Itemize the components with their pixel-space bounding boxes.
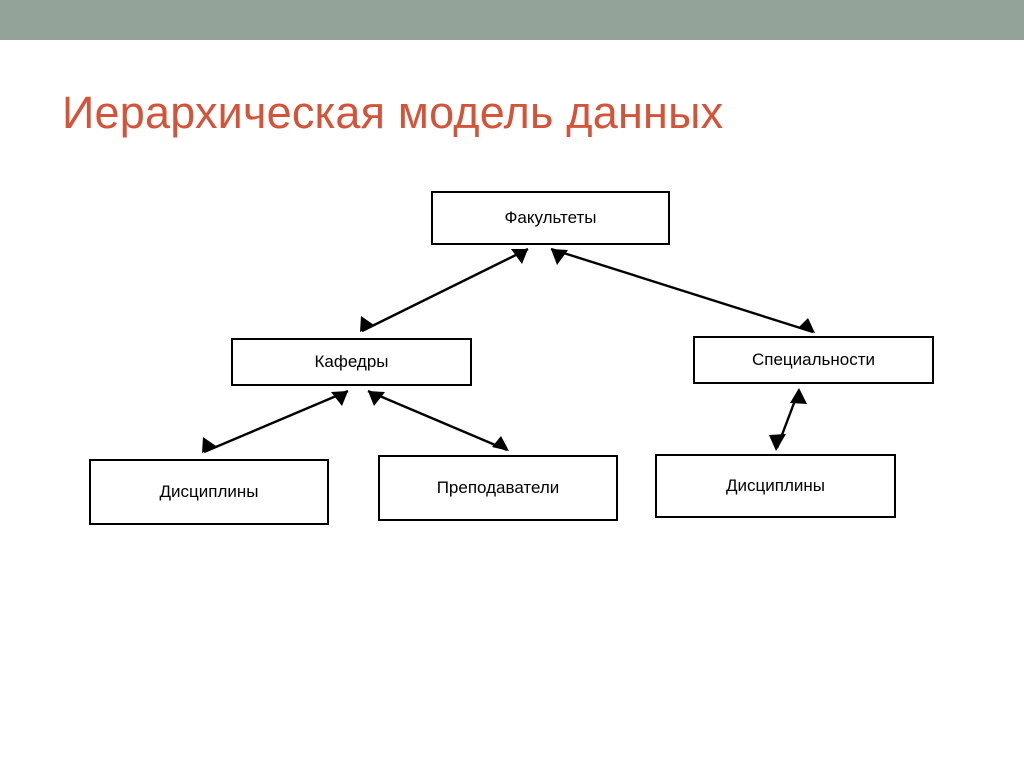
arrowhead-up-icon xyxy=(551,249,568,265)
edge-departments-teachers xyxy=(368,391,509,451)
node-teachers-label: Преподаватели xyxy=(437,478,560,498)
arrowhead-down-icon xyxy=(360,316,374,332)
node-disciplines-left[interactable]: Дисциплины xyxy=(89,459,329,525)
edge-faculties-specialities xyxy=(551,249,815,333)
arrowhead-up-icon xyxy=(368,391,385,406)
hierarchy-diagram: Факультеты Кафедры Специальности Дисципл… xyxy=(0,0,1024,767)
node-departments-label: Кафедры xyxy=(314,352,388,372)
node-specialities[interactable]: Специальности xyxy=(693,336,934,384)
node-disciplines-right-label: Дисциплины xyxy=(726,476,825,496)
node-departments[interactable]: Кафедры xyxy=(231,338,472,386)
edge-faculties-departments xyxy=(360,249,528,332)
node-disciplines-right[interactable]: Дисциплины xyxy=(655,454,896,518)
arrowhead-down-icon xyxy=(769,434,786,451)
arrowhead-up-icon xyxy=(331,391,348,406)
arrowhead-up-icon xyxy=(511,249,528,264)
arrowhead-up-icon xyxy=(790,388,807,404)
node-disciplines-left-label: Дисциплины xyxy=(160,482,259,502)
node-specialities-label: Специальности xyxy=(752,350,875,370)
edge-departments-disciplines xyxy=(202,391,348,453)
arrowhead-down-icon xyxy=(798,318,815,333)
arrowhead-down-icon xyxy=(492,436,509,451)
node-teachers[interactable]: Преподаватели xyxy=(378,455,618,521)
arrowhead-down-icon xyxy=(202,437,216,453)
slide-canvas: Иерархическая модель данных xyxy=(0,0,1024,767)
node-faculties-label: Факультеты xyxy=(504,208,596,228)
node-faculties[interactable]: Факультеты xyxy=(431,191,670,245)
edge-specialities-disciplines xyxy=(769,388,807,451)
